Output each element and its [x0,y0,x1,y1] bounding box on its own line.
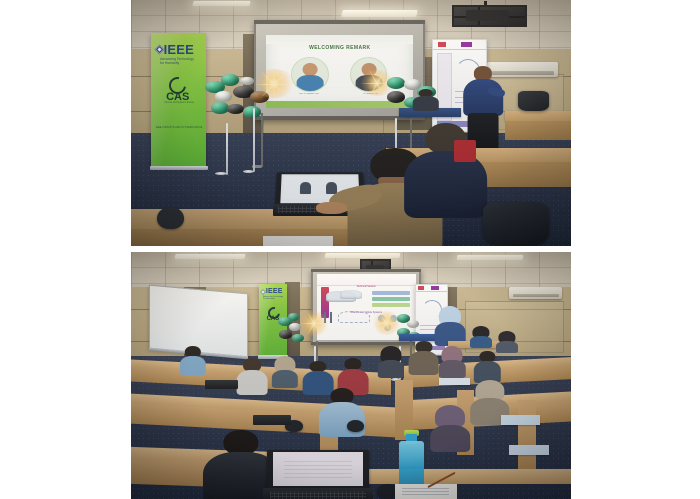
balloon-cluster-left [201,64,298,128]
handout [439,378,470,385]
audience-member [474,351,500,383]
laptop-lid [267,450,368,489]
backpack [483,202,549,246]
sparkle-ray [386,311,394,323]
poster-header [433,40,486,49]
balloon [292,334,305,342]
sparkle-ray [314,312,322,324]
sparkle-ray [273,64,274,84]
handout [501,415,541,425]
audience-member [237,358,268,395]
slide-title: WELCOMING REMARK [266,45,413,51]
sparkle-ray [274,69,289,84]
balloon-stand-base [243,170,254,173]
sparkle-ray [360,83,377,84]
ieee-diamond-icon [154,44,164,54]
side-table-front [505,121,571,141]
portrait-head [302,63,317,76]
laptop-keyboard-base [263,488,372,499]
side-table [505,111,571,121]
red-lanyard [454,140,476,162]
sparkle-ray [274,84,289,99]
sparkle-ray [314,323,322,335]
slide-header-band [266,35,413,44]
air-conditioner [509,287,562,299]
ceiling-projector-rig [452,5,527,27]
sparkle-ray [377,83,386,98]
equipment-case [518,91,549,111]
screenshot-canvas: WELCOMING REMARK Prof. Dr. Speaker One D… [0,0,700,499]
balloon [279,330,292,338]
audience-member [272,356,298,388]
audience-member [179,346,205,376]
balloon [243,106,261,118]
laptop-screen [273,452,362,486]
laptop-keys [270,491,366,499]
sparkle-ray [386,323,394,335]
audience-body [408,351,439,375]
slide-title-line1: Technical Session [338,285,394,289]
banner-footer-text: IEEE CIRCUITS AND SYSTEMS SOCIETY [156,126,202,129]
screen-top-casing [311,269,421,272]
sparkle-ray [259,84,274,99]
poster-header-accent-left [418,286,424,290]
ieee-logo: IEEE [156,43,194,56]
audience-member [408,341,439,376]
audience-body [179,356,205,376]
banner-base [150,166,208,170]
balloon [227,104,244,115]
ieee-cas-banner: IEEE Advancing Technology for Humanity C… [151,33,206,166]
attendee-back-right [470,326,492,348]
audience-body [430,425,470,452]
ieee-tagline: Advancing Technology for Humanity [263,296,283,301]
slide-vehicle-figure [340,290,362,299]
foreground-laptop [267,450,368,499]
poster-header-accent-right [431,286,438,290]
sparkle-ray [273,84,274,104]
sparkle-ray [386,323,399,324]
ceiling-light [324,253,399,258]
sparkle-decoration [252,69,297,98]
presenter-shirt [463,79,503,116]
seated-man-navy-blazer [408,123,483,216]
slide-vehicle-outline [338,311,370,323]
cas-subtitle: Circuits and Systems Society [160,102,199,105]
slide-callout-bar [372,291,410,295]
audience-body [439,360,465,378]
portrait-body [296,75,323,91]
closed-laptop-body [253,415,291,425]
balloon-cluster-left [276,306,324,350]
sparkle-ray [254,84,274,85]
balloon [387,91,405,103]
audience-member [439,346,465,378]
screen-top-casing [254,20,425,24]
ceiling-light [175,254,246,259]
audience-member [430,405,470,452]
sparkle-ray [274,84,294,85]
closed-laptop [254,415,289,425]
ceiling-light [341,10,417,17]
sparkle-ray [314,323,328,324]
sparkle-ray [379,323,387,335]
closed-laptop-body [205,380,238,389]
bench-row [360,469,571,484]
mouse [347,420,365,432]
poster-header [416,285,447,292]
handout [509,445,549,455]
sparkle-ray [368,83,377,98]
sparkle-ray [377,69,386,84]
ieee-logo: IEEE [261,288,283,295]
ceiling-light [456,255,523,260]
laptop-slide-figure [300,182,312,194]
photo-top-seminar-room: WELCOMING REMARK Prof. Dr. Speaker One D… [131,0,571,246]
attendee-body [413,96,439,111]
audience-body [272,370,298,388]
document [263,236,333,246]
ieee-wordmark: IEEE [164,43,194,56]
notebook [395,484,457,499]
balloon [215,91,232,102]
audience-body [377,360,403,378]
bench-divider [518,400,536,469]
balloon [221,74,239,86]
seated-man-hand [316,202,347,214]
laptop-document-lines [284,458,352,480]
balloon-stand-pole [226,123,228,175]
closed-laptop [206,380,237,389]
slide-callout-bar [372,297,410,301]
sparkle-ray [259,69,274,84]
mouse [157,207,183,229]
ceiling-light [192,1,250,6]
ieee-tagline: Advancing Technology for Humanity [160,58,194,66]
audience-member [377,346,403,378]
balloon [387,77,405,89]
sparkle-decoration [299,311,329,336]
audience-body [237,370,268,395]
poster-header-accent-right [461,42,473,47]
notebook-lines [402,486,449,497]
poster-header-accent-left [438,42,446,47]
ieee-wordmark: IEEE [266,288,283,295]
projector-body [466,10,509,21]
photo-bottom-lecture-hall: Technical Session Autonomous Vehicle Sys… [131,252,571,499]
balloon [288,313,300,321]
balloon [407,320,419,328]
speaker-hijab [435,306,466,346]
slide-pedestrian-figure [330,312,332,323]
attendee-body [470,336,492,348]
balloon-stand-pole [253,108,255,172]
back-attendee [413,89,439,111]
ieee-diamond-icon [260,289,266,295]
